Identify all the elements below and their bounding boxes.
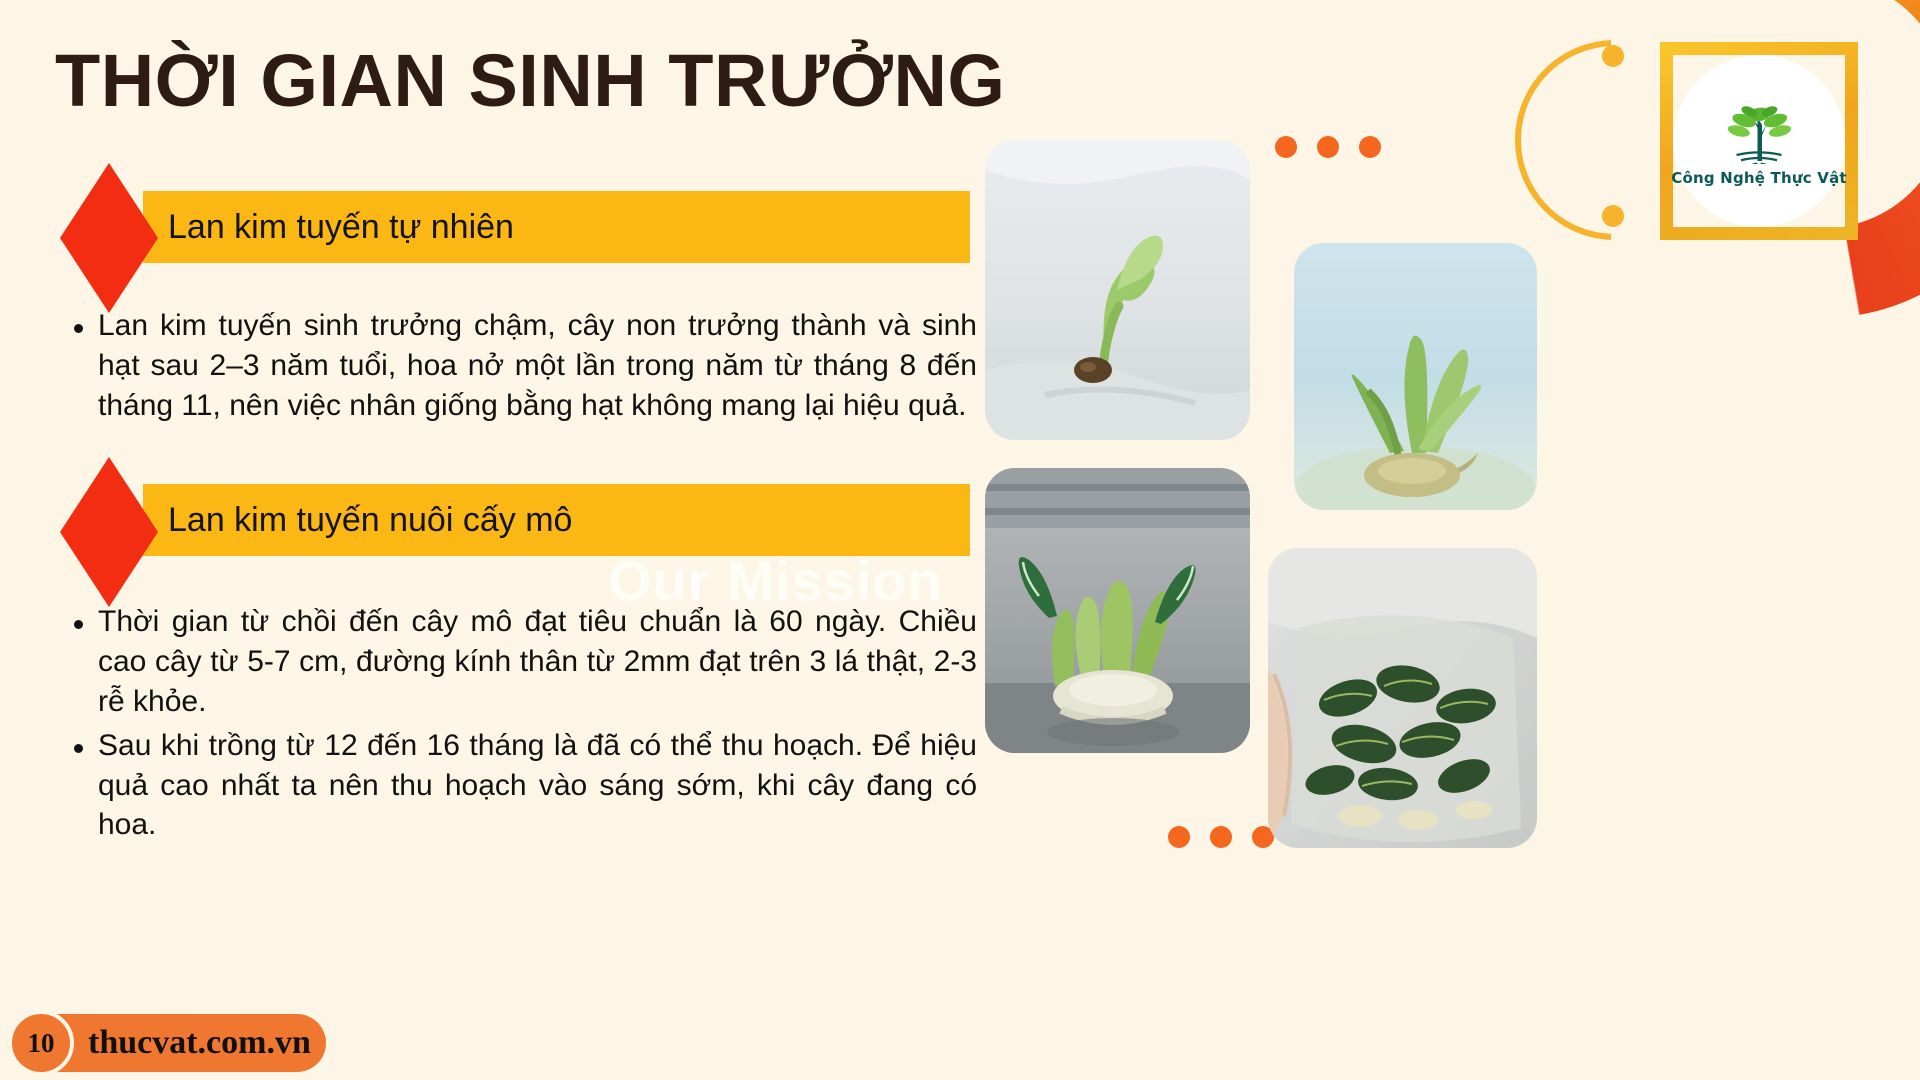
dot-icon [1275, 136, 1297, 158]
section-banner-1-label: Lan kim tuyến tự nhiên [168, 208, 514, 247]
arc-dot-top-icon [1602, 45, 1624, 67]
photo-harvest-bag [1268, 548, 1537, 848]
photo-shoot-cluster-image [1294, 243, 1537, 510]
brand-logo-inner: Công Nghệ Thực Vật [1673, 55, 1845, 227]
photo-harvest-bag-image [1268, 548, 1537, 848]
footer-page-number: 10 [28, 1028, 55, 1059]
section-2-body: Thời gian từ chồi đến cây mô đạt tiêu ch… [62, 602, 977, 849]
section-marker-1-icon [60, 163, 158, 313]
footer-website[interactable]: thucvat.com.vn [88, 1024, 311, 1062]
section-banner-1: Lan kim tuyến tự nhiên [143, 191, 970, 263]
section-1-bullet-list: Lan kim tuyến sinh trưởng chậm, cây non … [62, 306, 977, 426]
list-item: Thời gian từ chồi đến cây mô đạt tiêu ch… [62, 602, 977, 722]
brand-logo-text: Công Nghệ Thực Vật [1671, 169, 1847, 187]
dot-icon [1168, 826, 1190, 848]
footer-page-badge: 10 [8, 1010, 74, 1076]
section-2-bullet-list: Thời gian từ chồi đến cây mô đạt tiêu ch… [62, 602, 977, 845]
tree-icon [1713, 95, 1805, 167]
brand-logo: Công Nghệ Thực Vật [1660, 42, 1858, 240]
section-marker-2-icon [60, 457, 158, 607]
page-title: THỜI GIAN SINH TRƯỞNG [55, 38, 1005, 123]
section-1-body: Lan kim tuyến sinh trưởng chậm, cây non … [62, 306, 977, 430]
list-item: Lan kim tuyến sinh trưởng chậm, cây non … [62, 306, 977, 426]
slide-root: Công Nghệ Thực Vật THỜI GIAN SINH TRƯỞNG… [0, 0, 1920, 1080]
list-item: Sau khi trồng từ 12 đến 16 tháng là đã c… [62, 726, 977, 846]
dot-icon [1359, 136, 1381, 158]
photo-sprout-in-jar [985, 140, 1250, 440]
dot-icon [1317, 136, 1339, 158]
photo-sprout-in-jar-image [985, 140, 1250, 440]
section-banner-2-label: Lan kim tuyến nuôi cấy mô [168, 501, 572, 540]
photo-shoot-cluster [1294, 243, 1537, 510]
decor-dots-top [1275, 136, 1381, 158]
section-banner-2: Lan kim tuyến nuôi cấy mô [143, 484, 970, 556]
photo-plantlets-tray-image [985, 468, 1250, 753]
photo-plantlets-tray [985, 468, 1250, 753]
decor-dots-bottom [1168, 826, 1274, 848]
arc-dot-bottom-icon [1602, 205, 1624, 227]
dot-icon [1210, 826, 1232, 848]
